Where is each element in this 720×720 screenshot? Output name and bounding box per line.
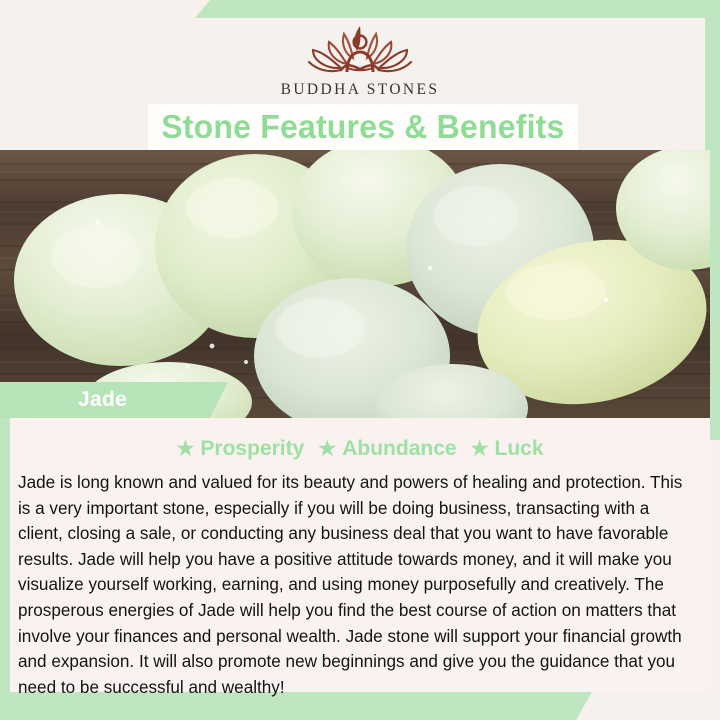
- star-icon: ★: [318, 439, 336, 459]
- content-panel: ★ Prosperity ★ Abundance ★ Luck Jade is …: [10, 418, 710, 692]
- title-banner: Stone Features & Benefits: [148, 104, 578, 150]
- brand-name: BUDDHA STONES: [281, 81, 440, 99]
- star-icon: ★: [176, 439, 194, 459]
- photo-illustration: [0, 150, 710, 418]
- jade-stones-photo: [0, 150, 710, 418]
- lotus-meditation-icon: [285, 18, 435, 80]
- benefit-item-prosperity: ★ Prosperity: [176, 437, 304, 461]
- stone-info-card: BUDDHA STONES Stone Features & Benefits: [0, 0, 720, 720]
- benefit-item-abundance: ★ Abundance: [318, 437, 456, 461]
- benefits-list: ★ Prosperity ★ Abundance ★ Luck: [10, 432, 710, 466]
- frame-accent-top: [195, 0, 720, 18]
- stone-name: Jade: [78, 388, 127, 412]
- brand-logo: BUDDHA STONES: [0, 18, 720, 106]
- star-icon: ★: [471, 439, 489, 459]
- benefit-label: Luck: [495, 437, 544, 461]
- benefit-label: Abundance: [342, 437, 456, 461]
- benefit-item-luck: ★ Luck: [471, 437, 544, 461]
- page-title: Stone Features & Benefits: [161, 108, 564, 146]
- stone-description: Jade is long known and valued for its be…: [18, 470, 694, 700]
- benefit-label: Prosperity: [200, 437, 304, 461]
- stone-name-band: Jade: [0, 382, 228, 418]
